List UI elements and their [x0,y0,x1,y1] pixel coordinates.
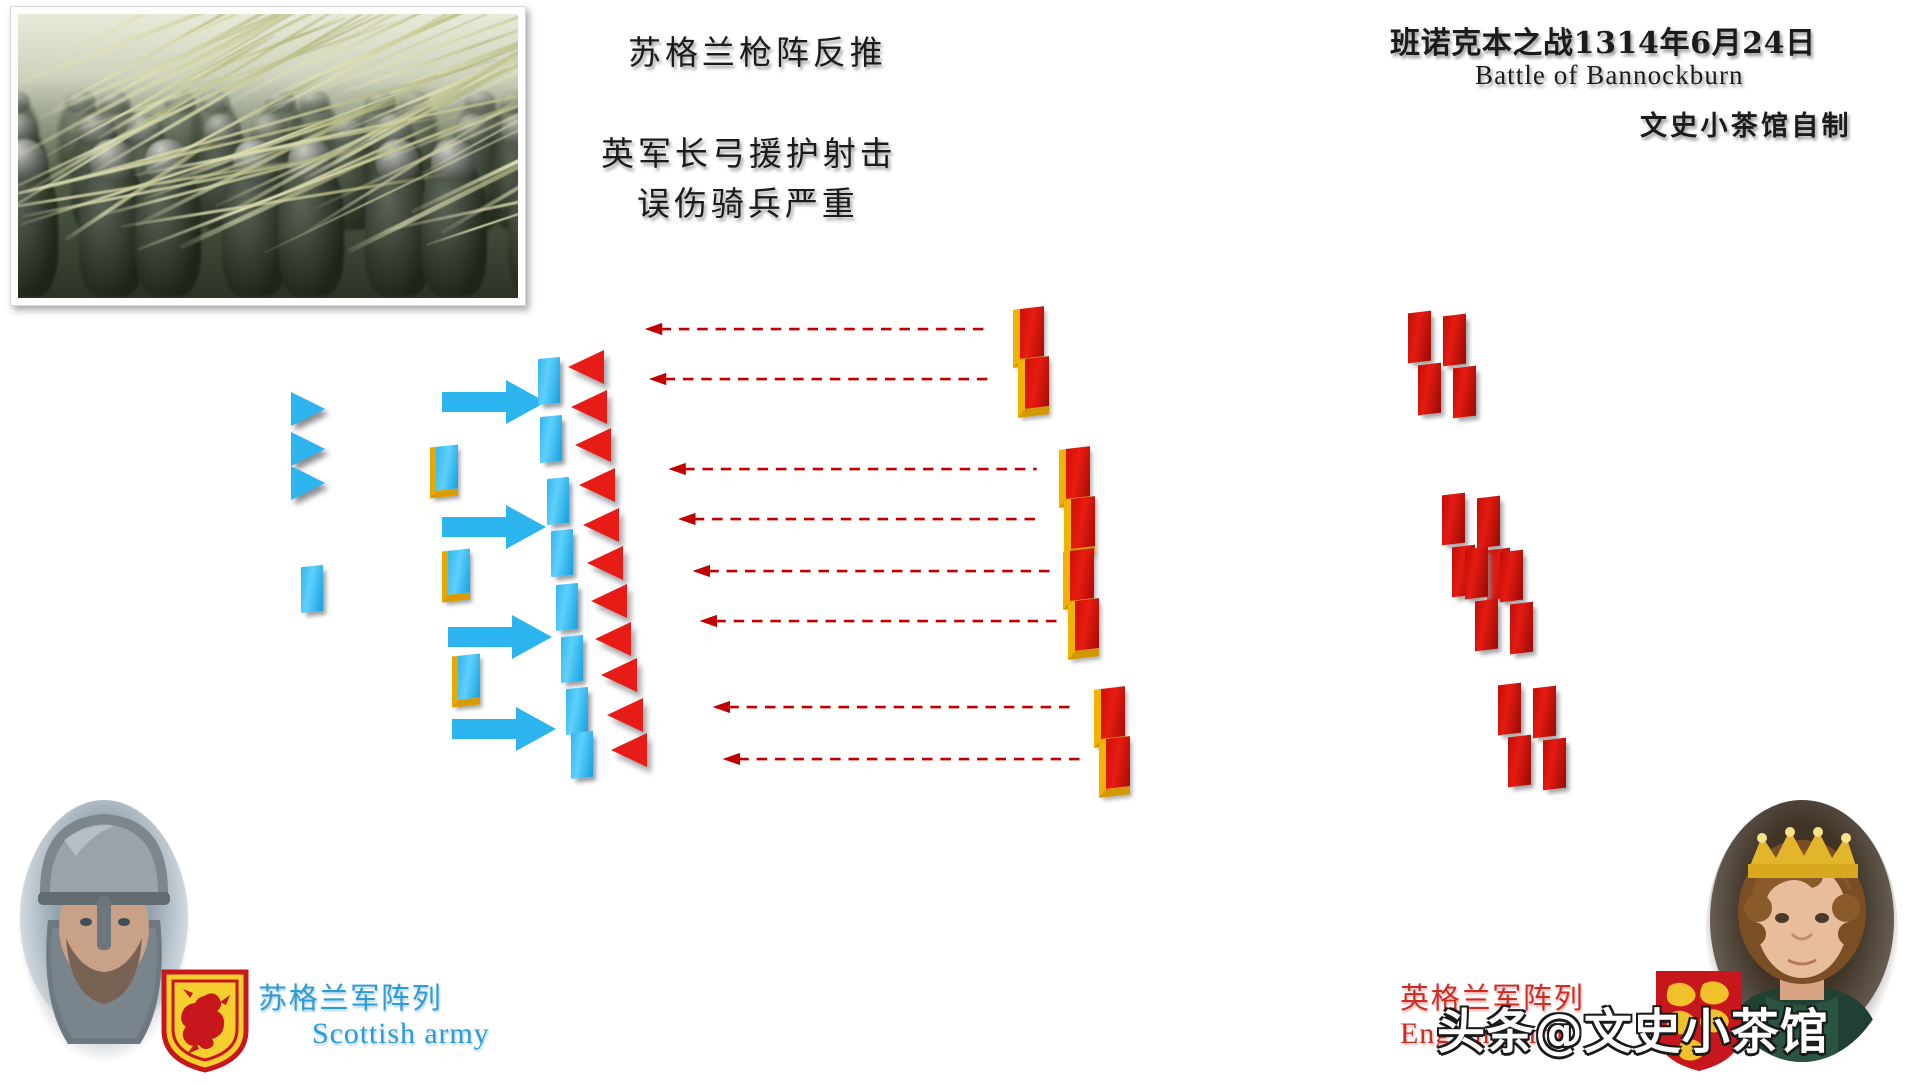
unit-scottish-spearmen [538,357,560,405]
unit-english-reserve [1465,547,1488,600]
unit-scottish-cavalry [291,392,325,426]
arrow-longbow-fire [665,564,1077,578]
unit-scottish-cavalry [291,432,325,466]
arrow-longbow-fire [672,614,1084,628]
unit-english-reserve [1508,735,1531,788]
unit-english-cavalry [579,468,615,502]
unit-scottish-archer [442,549,470,603]
unit-english-cavalry [571,390,607,424]
arrow-longbow-fire [685,700,1097,714]
arrow-scottish-advance [446,613,554,661]
unit-english-reserve [1500,550,1523,603]
unit-english-reserve [1477,496,1500,549]
arrow-scottish-advance [440,503,548,551]
unit-english-cavalry [591,584,627,618]
arrow-scottish-advance [450,705,558,753]
unit-scottish-spearmen [561,635,583,683]
unit-scottish-spearmen [556,583,578,631]
unit-english-reserve [1543,738,1566,791]
unit-english-reserve [1498,683,1521,736]
arrow-scottish-advance [440,378,548,426]
unit-english-reserve [1408,311,1431,364]
unit-english-cavalry [583,508,619,542]
unit-english-reserve [1418,363,1441,416]
unit-english-reserve [1443,314,1466,367]
unit-english-longbow [1068,598,1099,660]
scottish-royal-shield [160,968,250,1079]
unit-scottish-spearmen [540,415,562,463]
unit-english-cavalry [595,622,631,656]
unit-scottish-archer [430,445,458,499]
unit-english-longbow [1099,736,1130,798]
unit-english-reserve [1475,599,1498,652]
unit-english-reserve [1533,686,1556,739]
arrow-longbow-fire [695,752,1107,766]
unit-english-cavalry [611,733,647,767]
unit-scottish-spearmen [547,477,569,525]
unit-scottish-reserve [301,565,323,613]
legend-scottish-en: Scottish army [312,1017,490,1051]
unit-english-reserve [1442,493,1465,546]
arrow-longbow-fire [640,462,1065,476]
unit-english-cavalry [575,428,611,462]
unit-scottish-cavalry [291,466,325,500]
unit-english-reserve [1453,366,1476,419]
watermark-text: 头条@文史小茶馆 [1437,992,1829,1062]
unit-english-cavalry [607,698,643,732]
unit-english-longbow [1018,356,1049,418]
unit-english-reserve [1510,602,1533,655]
unit-scottish-spearmen [551,529,573,577]
unit-scottish-spearmen [571,731,593,779]
arrow-longbow-fire [650,512,1070,526]
arrow-longbow-fire [622,372,1022,386]
unit-scottish-spearmen [566,687,588,735]
unit-english-cavalry [568,350,604,384]
unit-english-cavalry [587,546,623,580]
arrow-longbow-fire [618,322,1018,336]
unit-scottish-archer [452,654,480,708]
unit-english-cavalry [601,658,637,692]
battle-map-canvas [0,0,1923,1086]
legend-scottish-cn: 苏格兰军阵列 [258,975,442,1017]
